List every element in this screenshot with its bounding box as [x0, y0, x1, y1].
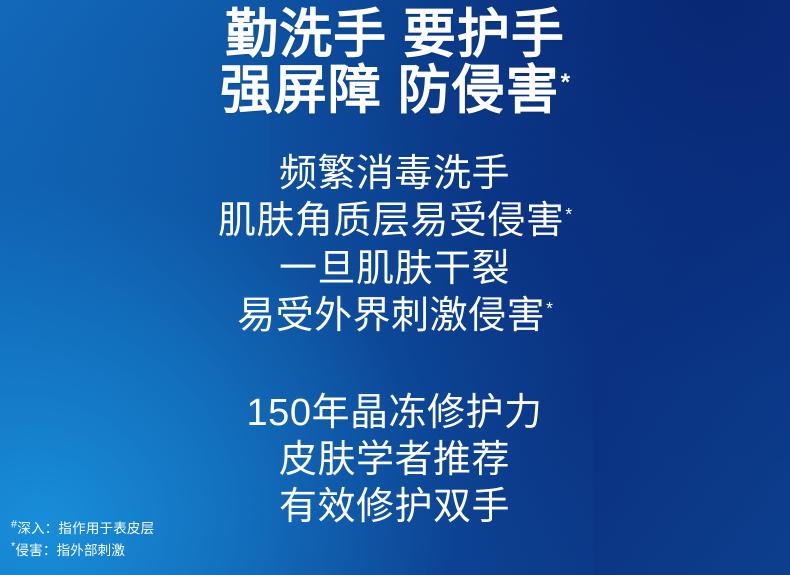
footnote-text: 侵害：指外部刺激	[15, 543, 125, 558]
headline: 勤洗手 要护手 强屏障 防侵害*	[0, 0, 790, 119]
problem-line-text: 频繁消毒洗手	[279, 153, 510, 195]
headline-line-1: 勤洗手 要护手	[0, 7, 790, 63]
footnote-line: #深入：指作用于表皮层	[11, 518, 154, 540]
problem-block: 频繁消毒洗手 肌肤角质层易受侵害* 一旦肌肤干裂 易受外界刺激侵害*	[0, 151, 790, 339]
problem-line: 一旦肌肤干裂	[0, 246, 790, 293]
benefit-line-text: 150年晶冻修护力	[247, 392, 543, 434]
footnote-text: 深入：指作用于表皮层	[17, 521, 154, 536]
headline-line-2-asterisk: *	[561, 69, 571, 96]
problem-line-mark: *	[565, 204, 572, 224]
headline-line-2-text: 强屏障 防侵害	[220, 61, 560, 120]
problem-line: 易受外界刺激侵害*	[0, 293, 790, 340]
problem-line: 频繁消毒洗手	[0, 151, 790, 198]
benefit-line: 皮肤学者推荐	[0, 437, 790, 484]
problem-line-mark: *	[546, 298, 553, 318]
footnotes: #深入：指作用于表皮层 *侵害：指外部刺激	[11, 518, 154, 562]
footnote-line: *侵害：指外部刺激	[11, 540, 154, 562]
headline-line-2: 强屏障 防侵害*	[0, 63, 790, 119]
problem-line-text: 易受外界刺激侵害	[237, 295, 545, 337]
promo-banner: 勤洗手 要护手 强屏障 防侵害* 频繁消毒洗手 肌肤角质层易受侵害* 一旦肌肤干…	[0, 0, 790, 575]
benefit-line-text: 有效修护双手	[279, 486, 510, 528]
benefit-block: 150年晶冻修护力 皮肤学者推荐 有效修护双手	[0, 390, 790, 531]
problem-line-text: 一旦肌肤干裂	[279, 248, 510, 290]
problem-line-text: 肌肤角质层易受侵害	[218, 200, 565, 242]
benefit-line: 150年晶冻修护力	[0, 390, 790, 437]
problem-line: 肌肤角质层易受侵害*	[0, 198, 790, 245]
banner-content: 勤洗手 要护手 强屏障 防侵害* 频繁消毒洗手 肌肤角质层易受侵害* 一旦肌肤干…	[0, 0, 790, 575]
benefit-line-text: 皮肤学者推荐	[279, 439, 510, 481]
